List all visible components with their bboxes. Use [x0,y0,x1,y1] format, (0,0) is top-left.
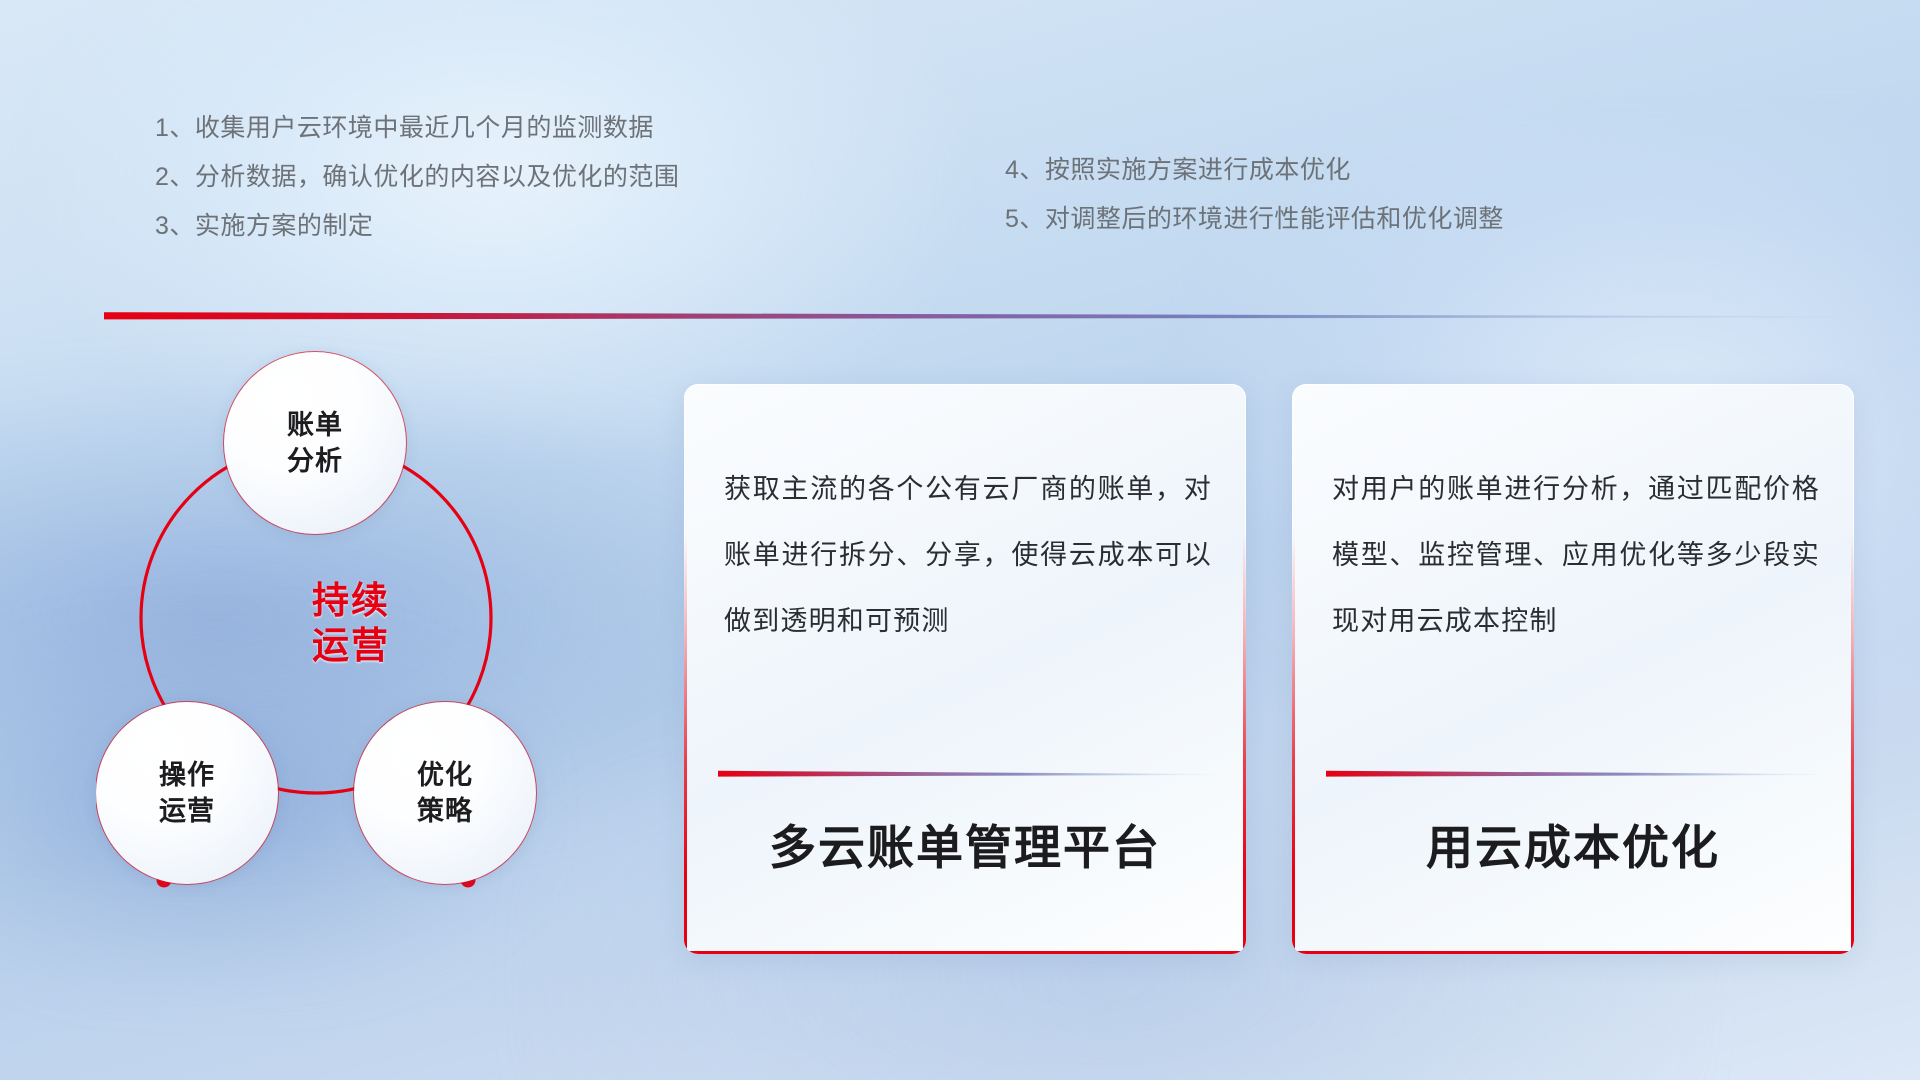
card-1-body-text: 获取主流的各个公有云厂商的账单，对账单进行拆分、分享，使得云成本可以做到透明和可… [724,456,1212,654]
diagram-node-bill-analysis-line2: 分析 [287,443,343,479]
diagram-center-label-line1: 持续 [256,578,446,623]
process-steps-left: 1、收集用户云环境中最近几个月的监测数据 2、分析数据，确认优化的内容以及优化的… [155,116,679,239]
diagram-center-label: 持续 运营 [256,578,446,668]
diagram-node-optimization-strategy-line1: 优化 [417,757,473,793]
card-2-body-text: 对用户的账单进行分析，通过匹配价格模型、监控管理、应用优化等多少段实现对用云成本… [1332,456,1820,654]
diagram-node-bill-analysis-line1: 账单 [287,407,343,443]
diagram-node-optimization-strategy[interactable]: 优化 策略 [354,702,536,884]
diagram-node-optimization-strategy-line2: 策略 [417,793,473,829]
process-step-2: 2、分析数据，确认优化的内容以及优化的范围 [155,165,679,190]
diagram-node-bill-analysis[interactable]: 账单 分析 [224,352,406,534]
section-divider [104,310,1874,321]
process-step-3: 3、实施方案的制定 [155,214,679,239]
process-steps-right: 4、按照实施方案进行成本优化 5、对调整后的环境进行性能评估和优化调整 [1005,158,1504,232]
diagram-node-operation[interactable]: 操作 运营 [96,702,278,884]
continuous-operation-diagram: 账单 分析 操作 运营 优化 策略 持续 运营 [96,350,656,950]
process-step-5: 5、对调整后的环境进行性能评估和优化调整 [1005,207,1504,232]
card-1-divider [718,770,1220,778]
diagram-node-operation-line1: 操作 [159,757,215,793]
card-1-title: 多云账单管理平台 [684,820,1246,876]
process-step-1: 1、收集用户云环境中最近几个月的监测数据 [155,116,679,141]
process-step-4: 4、按照实施方案进行成本优化 [1005,158,1504,183]
diagram-node-operation-line2: 运营 [159,793,215,829]
card-multi-cloud-billing-platform[interactable]: 获取主流的各个公有云厂商的账单，对账单进行拆分、分享，使得云成本可以做到透明和可… [684,384,1246,954]
card-2-divider [1326,770,1828,778]
card-1-accent-bottom [684,951,1246,954]
card-cloud-cost-optimization[interactable]: 对用户的账单进行分析，通过匹配价格模型、监控管理、应用优化等多少段实现对用云成本… [1292,384,1854,954]
diagram-center-label-line2: 运营 [256,623,446,668]
card-2-accent-bottom [1292,951,1854,954]
card-2-title: 用云成本优化 [1292,820,1854,876]
